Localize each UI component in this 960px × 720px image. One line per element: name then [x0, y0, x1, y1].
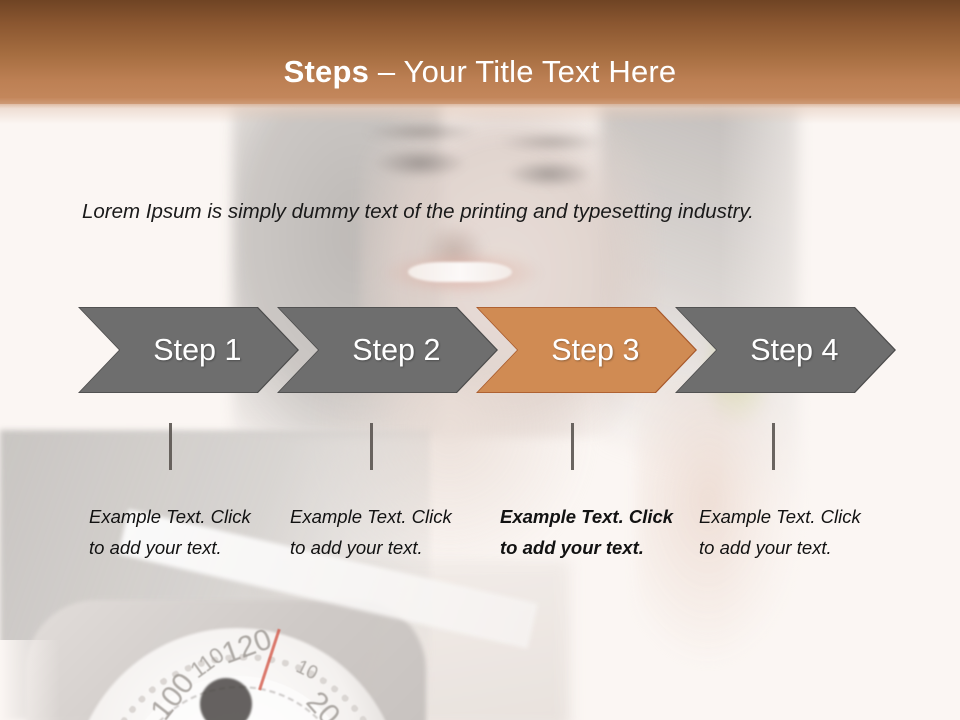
process-step-1-fill: Step 1 [80, 308, 298, 393]
photo-teeth [408, 262, 512, 282]
page-title-bold: Steps [284, 54, 369, 89]
process-step-2-fill: Step 2 [279, 308, 497, 393]
process-step-3-label: Step 3 [533, 333, 639, 366]
photo-fade-bottom-left [0, 640, 60, 720]
photo-scale-rim [72, 628, 402, 720]
process-step-4-fill: Step 4 [677, 308, 895, 393]
photo-scale-number-110: 110 [186, 642, 230, 684]
photo-fade-right [720, 100, 960, 720]
photo-neck [300, 380, 600, 620]
photo-scale-body [26, 600, 426, 720]
photo-grey-wash [0, 430, 430, 720]
description-column-1: Example Text. Click to add your text. [89, 502, 264, 563]
page-title: Steps – Your Title Text Here [0, 53, 960, 91]
process-chevron-bar: Step 1 Step 2 Step 3 Step 4 [78, 307, 896, 395]
photo-nose [424, 225, 484, 269]
photo-scale-bezel-dots [96, 654, 392, 720]
connector-tick-3 [571, 423, 574, 470]
description-column-4: Example Text. Click to add your text. [699, 502, 874, 563]
process-step-3-fill: Step 3 [478, 308, 696, 393]
page-title-rest: – Your Title Text Here [369, 54, 676, 89]
lead-paragraph: Lorem Ipsum is simply dummy text of the … [82, 196, 894, 228]
photo-mouth [382, 250, 542, 296]
description-column-3: Example Text. Click to add your text. [500, 502, 675, 563]
photo-scale-number-120: 120 [218, 622, 277, 671]
process-step-4[interactable]: Step 4 [675, 307, 896, 393]
photo-scale-number-10: 10 [292, 656, 321, 685]
connector-tick-2 [370, 423, 373, 470]
process-step-4-label: Step 4 [732, 333, 838, 366]
slide-header-fade [0, 98, 960, 124]
process-step-3[interactable]: Step 3 [476, 307, 697, 393]
process-step-2[interactable]: Step 2 [277, 307, 498, 393]
photo-eye-left [374, 148, 466, 178]
description-column-2: Example Text. Click to add your text. [290, 502, 465, 563]
photo-scale-number-20: 20 [299, 685, 347, 720]
photo-scale-dial [118, 676, 358, 720]
process-step-2-label: Step 2 [334, 333, 440, 366]
photo-eyebrow-right [500, 134, 604, 150]
connector-tick-1 [169, 423, 172, 470]
photo-scale-hub [200, 678, 252, 720]
photo-eyebrow-left [366, 124, 476, 140]
process-step-1[interactable]: Step 1 [78, 307, 299, 393]
process-step-1-label: Step 1 [135, 333, 241, 366]
photo-scale-number-100: 100 [144, 667, 202, 720]
photo-shoulder [250, 560, 570, 720]
photo-eye-right [506, 160, 592, 188]
connector-tick-4 [772, 423, 775, 470]
photo-scale-ticks [128, 686, 352, 720]
slide-canvas: 100 110 120 10 20 Steps – Your Title Tex… [0, 0, 960, 720]
photo-scale-needle [258, 629, 281, 691]
